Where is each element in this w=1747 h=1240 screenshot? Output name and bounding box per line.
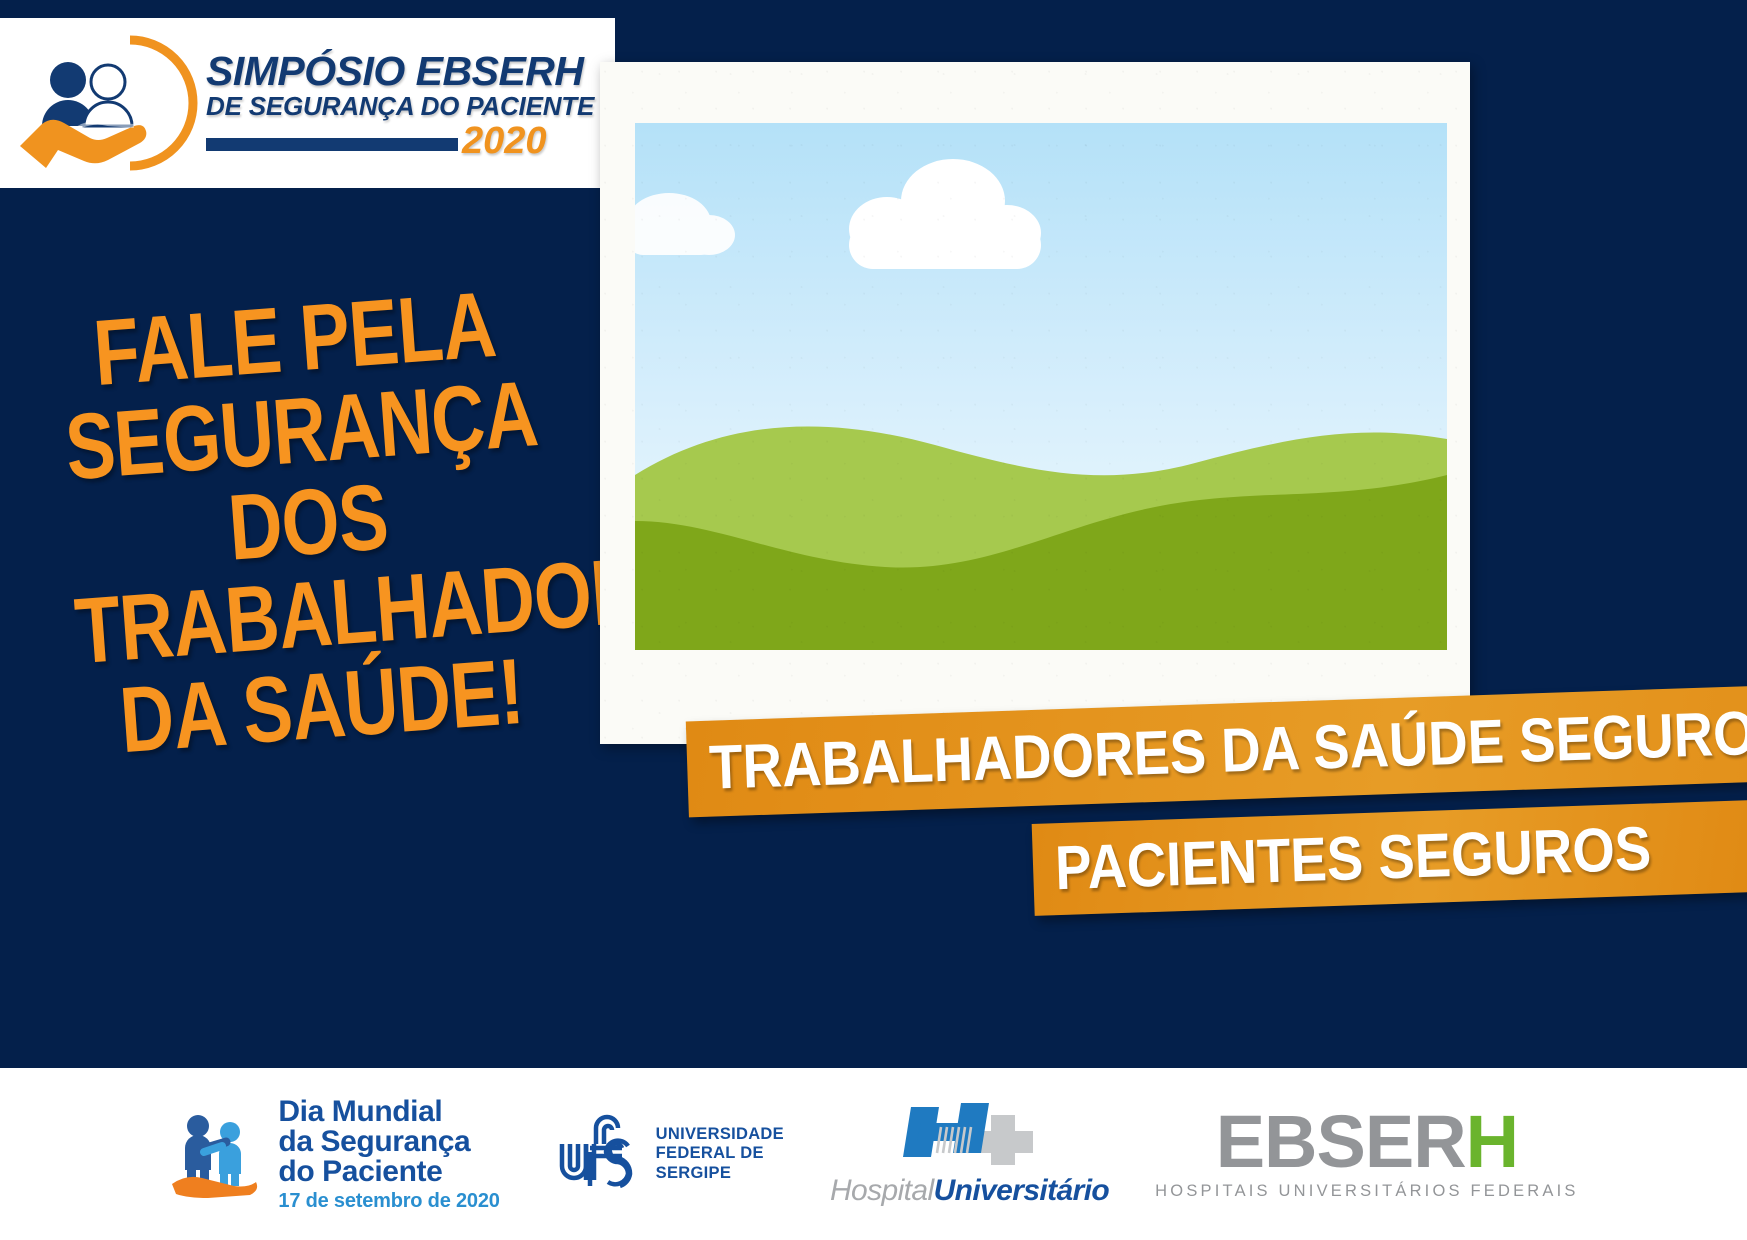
wpsd-line3: do Paciente bbox=[278, 1157, 499, 1187]
ufs-logo: UNIVERSIDADE FEDERAL DE SERGIPE bbox=[556, 1108, 784, 1201]
event-year: 2020 bbox=[462, 123, 547, 159]
banner-line-2-text: PACIENTES SEGUROS bbox=[1054, 818, 1652, 900]
page-title: FALE PELA SEGURANÇA DOS TRABALHADORES DA… bbox=[0, 271, 624, 774]
hu-word-light: Hospital bbox=[830, 1174, 934, 1207]
ebserh-subtitle: HOSPITAIS UNIVERSITÁRIOS FEDERAIS bbox=[1155, 1182, 1578, 1201]
ufs-line3: SERGIPE bbox=[656, 1164, 784, 1183]
footer-logo-strip: Dia Mundial da Segurança do Paciente 17 … bbox=[0, 1068, 1747, 1240]
logo-divider-rule bbox=[206, 138, 458, 151]
hospital-universitario-logo: HospitalUniversitário bbox=[830, 1101, 1109, 1208]
world-patient-safety-day-text: Dia Mundial da Segurança do Paciente 17 … bbox=[278, 1097, 499, 1211]
banner-line-2: PACIENTES SEGUROS bbox=[1032, 800, 1747, 916]
hospital-universitario-wordmark: HospitalUniversitário bbox=[830, 1174, 1109, 1208]
h-plus-icon bbox=[895, 1101, 1045, 1172]
ufs-line2: FEDERAL DE bbox=[656, 1144, 784, 1163]
banner-line-1-text: TRABALHADORES DA SAÚDE SEGUROS, bbox=[708, 701, 1747, 799]
ufs-monogram-icon bbox=[556, 1108, 648, 1201]
ebserh-logo: EBSERH HOSPITAIS UNIVERSITÁRIOS FEDERAIS bbox=[1155, 1107, 1578, 1201]
wpsd-line1: Dia Mundial bbox=[278, 1097, 499, 1127]
landscape-placeholder-image bbox=[635, 123, 1447, 650]
event-logo-text: SIMPÓSIO EBSERH DE SEGURANÇA DO PACIENTE… bbox=[206, 47, 594, 160]
wpsd-date: 17 de setembro de 2020 bbox=[278, 1191, 499, 1211]
ebserh-wordmark: EBSERH bbox=[1216, 1107, 1518, 1177]
hand-holding-two-people-icon bbox=[12, 28, 202, 178]
poster-canvas: SIMPÓSIO EBSERH DE SEGURANÇA DO PACIENTE… bbox=[0, 0, 1747, 1240]
event-title-line2: DE SEGURANÇA DO PACIENTE bbox=[206, 92, 594, 122]
photo-card bbox=[600, 62, 1470, 744]
ufs-name-text: UNIVERSIDADE FEDERAL DE SERGIPE bbox=[656, 1125, 784, 1183]
ufs-line1: UNIVERSIDADE bbox=[656, 1125, 784, 1144]
two-people-hand-icon bbox=[168, 1104, 268, 1205]
ebserh-word-grey: EBSER bbox=[1216, 1100, 1466, 1183]
ebserh-word-green: H bbox=[1466, 1100, 1518, 1183]
world-patient-safety-day-logo: Dia Mundial da Segurança do Paciente 17 … bbox=[168, 1097, 499, 1211]
event-title-line1: SIMPÓSIO EBSERH bbox=[206, 51, 594, 92]
event-logo-plate: SIMPÓSIO EBSERH DE SEGURANÇA DO PACIENTE… bbox=[0, 18, 615, 188]
event-year-row: 2020 bbox=[206, 123, 594, 159]
hu-word-bold: Universitário bbox=[934, 1174, 1110, 1207]
wpsd-line2: da Segurança bbox=[278, 1127, 499, 1157]
